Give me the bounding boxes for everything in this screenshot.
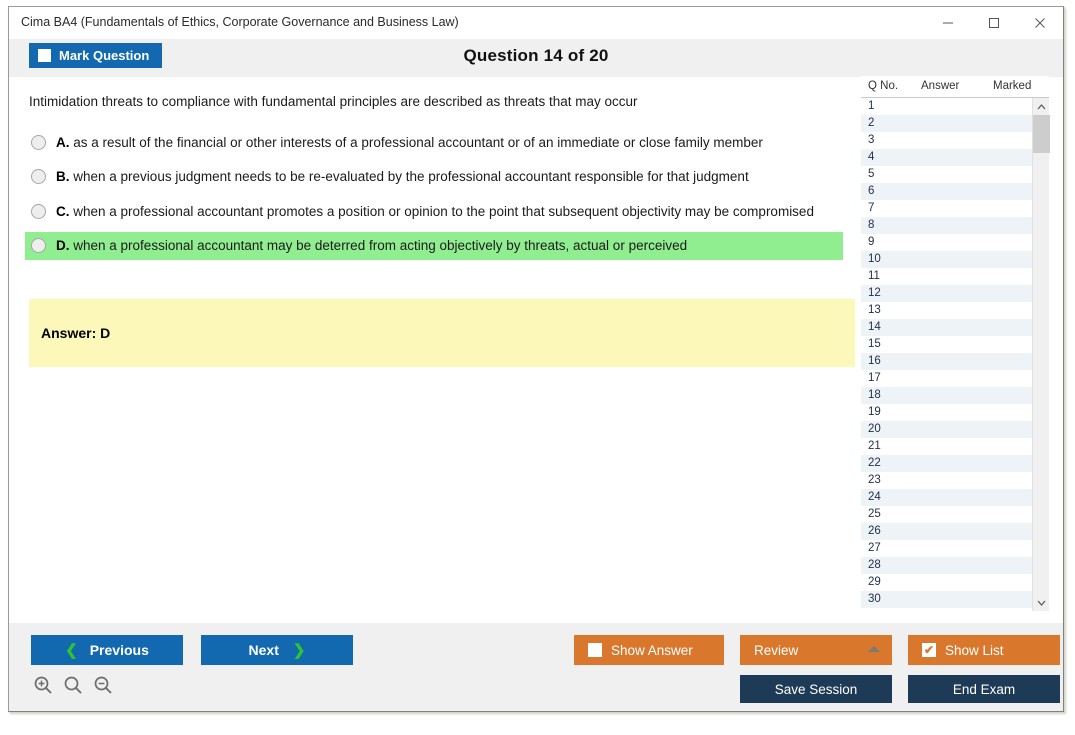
- question-number-cell: 2: [868, 117, 874, 129]
- option-text: A. as a result of the financial or other…: [56, 134, 763, 152]
- question-number-cell: 30: [868, 593, 881, 605]
- option-body: when a professional accountant may be de…: [73, 238, 687, 253]
- question-number-cell: 4: [868, 151, 874, 163]
- question-number-cell: 25: [868, 508, 881, 520]
- question-number-cell: 3: [868, 134, 874, 146]
- question-number-cell: 26: [868, 525, 881, 537]
- question-number-cell: 7: [868, 202, 874, 214]
- question-number-cell: 27: [868, 542, 881, 554]
- scroll-up-arrow-icon[interactable]: [1033, 98, 1050, 115]
- question-list-row[interactable]: 14: [861, 319, 1032, 336]
- question-list-row[interactable]: 3: [861, 132, 1032, 149]
- caret-up-icon: [868, 646, 880, 652]
- radio-button-d[interactable]: [31, 238, 46, 253]
- question-list-row[interactable]: 4: [861, 149, 1032, 166]
- question-list-row[interactable]: 27: [861, 540, 1032, 557]
- question-number-cell: 17: [868, 372, 881, 384]
- window-title: Cima BA4 (Fundamentals of Ethics, Corpor…: [21, 15, 459, 29]
- option-letter: C.: [56, 204, 70, 219]
- show-list-label: Show List: [945, 643, 1004, 658]
- question-number-cell: 29: [868, 576, 881, 588]
- exam-footer: ❮ Previous Next ❯: [9, 623, 1063, 711]
- option-row-c[interactable]: C. when a professional accountant promot…: [25, 198, 843, 226]
- next-button[interactable]: Next ❯: [201, 635, 353, 665]
- review-dropdown-button[interactable]: Review: [740, 635, 892, 665]
- question-list-row[interactable]: 11: [861, 268, 1032, 285]
- question-list-row[interactable]: 26: [861, 523, 1032, 540]
- option-text: B. when a previous judgment needs to be …: [56, 168, 749, 186]
- question-counter: Question 14 of 20: [9, 46, 1063, 66]
- option-body: when a professional accountant promotes …: [73, 204, 814, 219]
- radio-button-c[interactable]: [31, 204, 46, 219]
- show-answer-button[interactable]: Show Answer: [574, 635, 724, 665]
- question-number-cell: 15: [868, 338, 881, 350]
- question-number-cell: 5: [868, 168, 874, 180]
- question-number-cell: 9: [868, 236, 874, 248]
- question-list-row[interactable]: 17: [861, 370, 1032, 387]
- question-number-cell: 1: [868, 100, 874, 112]
- exam-window: Cima BA4 (Fundamentals of Ethics, Corpor…: [8, 6, 1064, 712]
- chevron-right-icon: ❯: [293, 641, 306, 659]
- chevron-left-icon: ❮: [65, 641, 78, 659]
- review-label: Review: [754, 643, 798, 658]
- question-number-cell: 11: [868, 270, 880, 282]
- question-list-row[interactable]: 6: [861, 183, 1032, 200]
- previous-button-label: Previous: [90, 642, 149, 658]
- question-list-row[interactable]: 28: [861, 557, 1032, 574]
- question-list-row[interactable]: 30: [861, 591, 1032, 608]
- option-body: as a result of the financial or other in…: [73, 135, 763, 150]
- question-list-row[interactable]: 18: [861, 387, 1032, 404]
- question-number-cell: 28: [868, 559, 881, 571]
- zoom-reset-icon[interactable]: [63, 675, 83, 700]
- question-list-row[interactable]: 13: [861, 302, 1032, 319]
- question-number-cell: 18: [868, 389, 881, 401]
- question-number-cell: 22: [868, 457, 881, 469]
- chevron-down-icon: [1037, 600, 1046, 606]
- question-list-panel: Q No. Answer Marked 12345678910111213141…: [861, 76, 1049, 611]
- question-number-cell: 12: [868, 287, 881, 299]
- end-exam-label: End Exam: [953, 682, 1015, 697]
- save-session-label: Save Session: [775, 682, 858, 697]
- next-button-label: Next: [249, 642, 279, 658]
- column-header-marked: Marked: [993, 80, 1031, 92]
- previous-button[interactable]: ❮ Previous: [31, 635, 183, 665]
- show-list-checkbox[interactable]: ✔: [922, 643, 936, 657]
- question-list-header: Q No. Answer Marked: [861, 76, 1049, 98]
- title-bar: Cima BA4 (Fundamentals of Ethics, Corpor…: [9, 7, 1063, 39]
- zoom-in-icon[interactable]: [33, 675, 53, 700]
- question-list-row[interactable]: 22: [861, 455, 1032, 472]
- option-text: C. when a professional accountant promot…: [56, 203, 814, 221]
- show-answer-checkbox[interactable]: [588, 643, 602, 657]
- close-icon: [1034, 17, 1046, 29]
- column-header-qno: Q No.: [868, 80, 898, 92]
- close-button[interactable]: [1017, 7, 1063, 38]
- column-header-answer: Answer: [921, 80, 959, 92]
- question-number-cell: 24: [868, 491, 881, 503]
- zoom-controls: [33, 675, 113, 700]
- question-list-row[interactable]: 25: [861, 506, 1032, 523]
- question-pane: Intimidation threats to compliance with …: [9, 77, 859, 625]
- option-row-a[interactable]: A. as a result of the financial or other…: [25, 129, 843, 157]
- question-number-cell: 23: [868, 474, 881, 486]
- question-list-row[interactable]: 23: [861, 472, 1032, 489]
- question-list-row[interactable]: 7: [861, 200, 1032, 217]
- option-text: D. when a professional accountant may be…: [56, 237, 687, 255]
- question-list-row[interactable]: 12: [861, 285, 1032, 302]
- scrollbar-thumb[interactable]: [1033, 115, 1050, 153]
- option-letter: B.: [56, 169, 70, 184]
- radio-button-a[interactable]: [31, 135, 46, 150]
- end-exam-button[interactable]: End Exam: [908, 675, 1060, 703]
- option-row-d[interactable]: D. when a professional accountant may be…: [25, 232, 843, 260]
- question-number-cell: 8: [868, 219, 874, 231]
- show-answer-label: Show Answer: [611, 643, 693, 658]
- maximize-button[interactable]: [971, 7, 1017, 38]
- answer-text: Answer: D: [41, 325, 110, 341]
- option-body: when a previous judgment needs to be re-…: [73, 169, 748, 184]
- minimize-icon: [942, 17, 954, 29]
- question-number-cell: 10: [868, 253, 881, 265]
- question-list-row[interactable]: 24: [861, 489, 1032, 506]
- options-list: A. as a result of the financial or other…: [29, 129, 839, 260]
- question-list-scrollbar[interactable]: [1032, 98, 1049, 611]
- save-session-button[interactable]: Save Session: [740, 675, 892, 703]
- question-list-rows[interactable]: 1234567891011121314151617181920212223242…: [861, 98, 1032, 611]
- question-number-cell: 21: [868, 440, 881, 452]
- question-stem: Intimidation threats to compliance with …: [29, 93, 839, 111]
- show-list-button[interactable]: ✔ Show List: [908, 635, 1060, 665]
- question-list-row[interactable]: 21: [861, 438, 1032, 455]
- question-list-row[interactable]: 1: [861, 98, 1032, 115]
- question-number-cell: 20: [868, 423, 881, 435]
- question-number-cell: 16: [868, 355, 881, 367]
- question-list-row[interactable]: 9: [861, 234, 1032, 251]
- option-letter: A.: [56, 135, 70, 150]
- question-list-row[interactable]: 20: [861, 421, 1032, 438]
- question-number-cell: 13: [868, 304, 881, 316]
- question-list-row[interactable]: 2: [861, 115, 1032, 132]
- question-list-row[interactable]: 5: [861, 166, 1032, 183]
- question-number-cell: 14: [868, 321, 881, 333]
- question-list-row[interactable]: 16: [861, 353, 1032, 370]
- question-number-cell: 6: [868, 185, 874, 197]
- question-list-row[interactable]: 15: [861, 336, 1032, 353]
- chevron-up-icon: [1037, 104, 1046, 110]
- exam-header: Mark Question Question 14 of 20: [9, 39, 1063, 77]
- question-number-cell: 19: [868, 406, 881, 418]
- question-list-row[interactable]: 10: [861, 251, 1032, 268]
- maximize-icon: [988, 17, 1000, 29]
- option-letter: D.: [56, 238, 70, 253]
- zoom-out-icon[interactable]: [93, 675, 113, 700]
- checkmark-icon: ✔: [924, 644, 934, 656]
- question-list-row[interactable]: 19: [861, 404, 1032, 421]
- question-list-row[interactable]: 8: [861, 217, 1032, 234]
- minimize-button[interactable]: [925, 7, 971, 38]
- question-list-row[interactable]: 29: [861, 574, 1032, 591]
- exam-body: Intimidation threats to compliance with …: [9, 77, 1063, 625]
- option-row-b[interactable]: B. when a previous judgment needs to be …: [25, 163, 843, 191]
- radio-button-b[interactable]: [31, 169, 46, 184]
- answer-reveal-box: Answer: D: [29, 299, 855, 367]
- scroll-down-arrow-icon[interactable]: [1033, 594, 1050, 611]
